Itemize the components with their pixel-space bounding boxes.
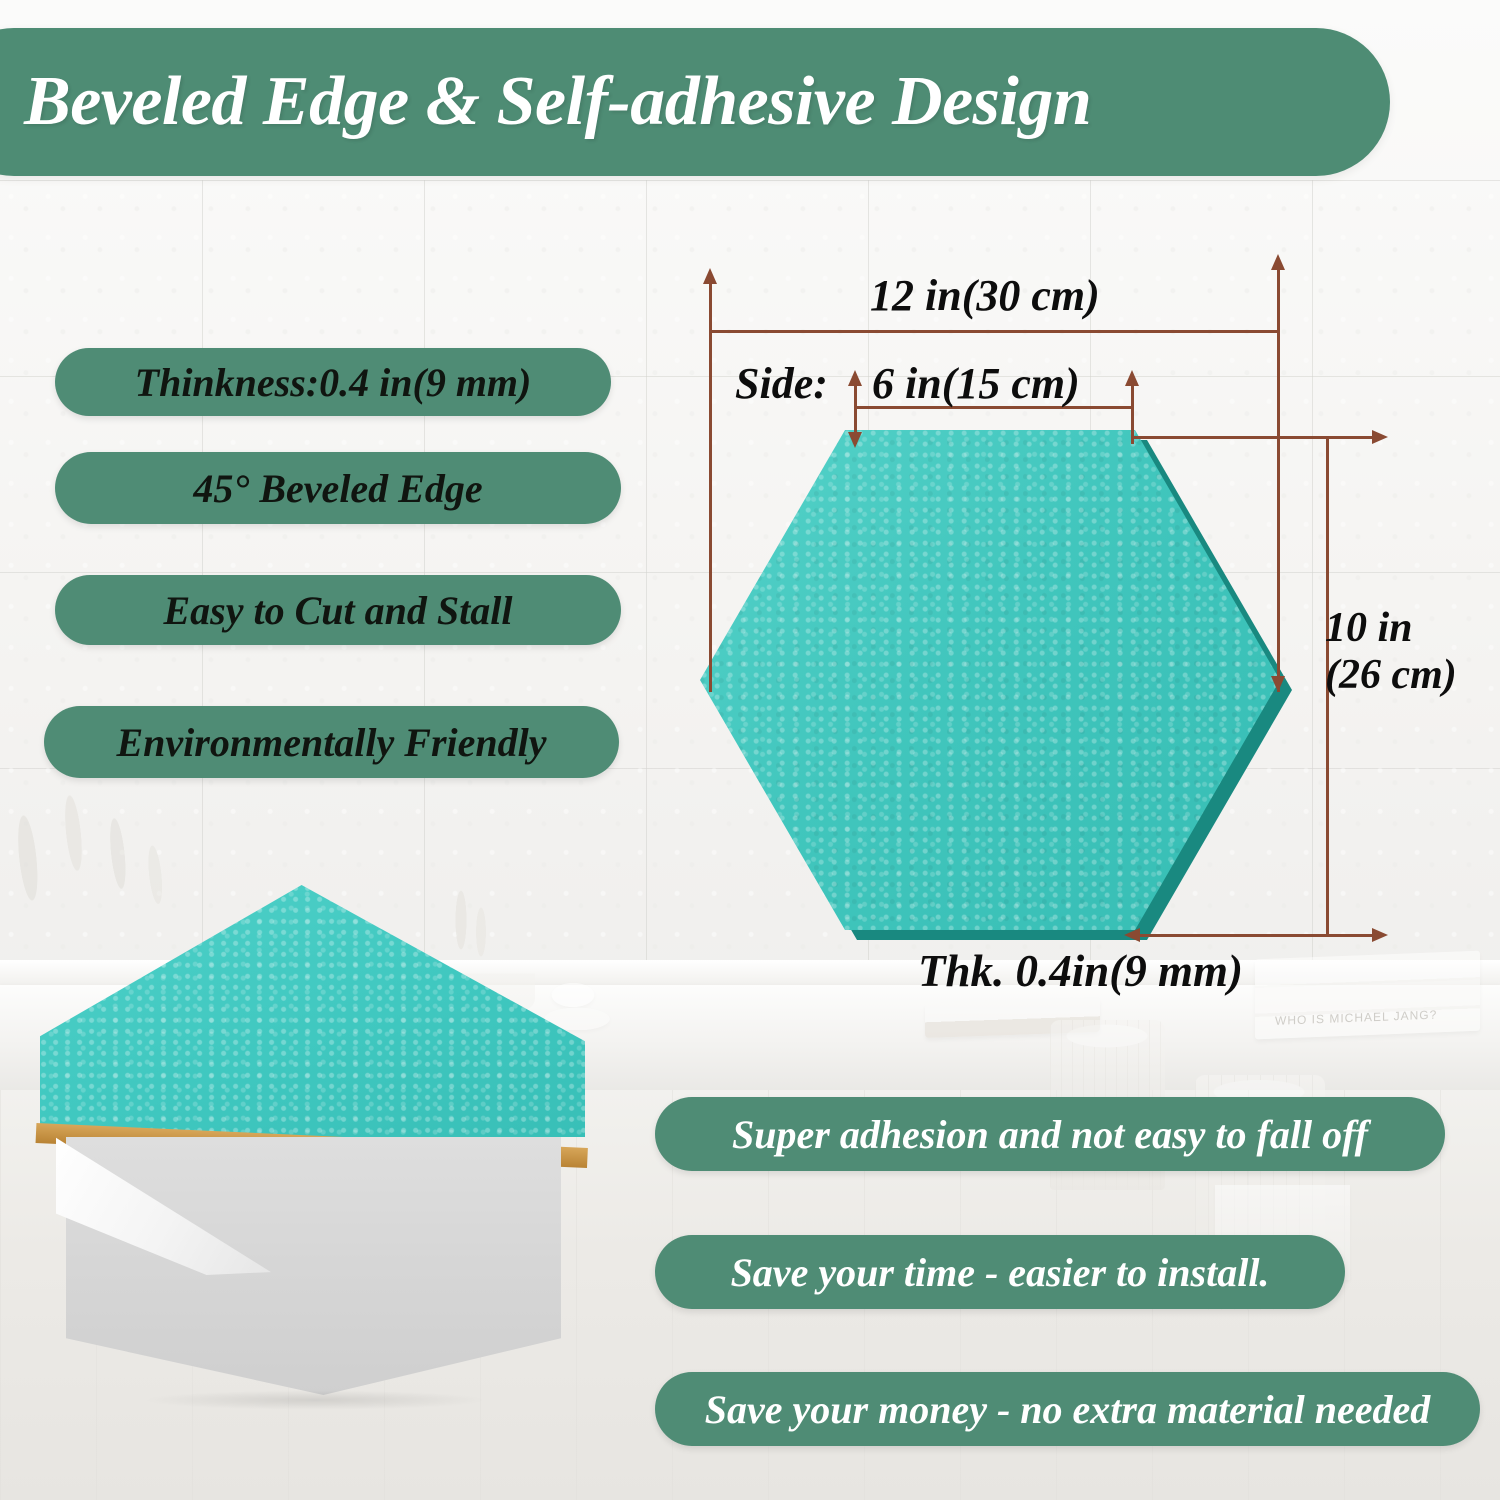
dimension-label-width: 12 in(30 cm) bbox=[870, 270, 1100, 321]
peel-drop-shadow bbox=[70, 1385, 560, 1415]
dimension-arrow-side-right-up-icon bbox=[1125, 370, 1139, 386]
dimension-extension-left bbox=[709, 282, 712, 692]
dimension-arrow-side-left-down-icon bbox=[848, 432, 862, 448]
dimension-line-width bbox=[709, 330, 1280, 333]
dimension-label-height-line1: 10 in bbox=[1325, 605, 1413, 651]
header-banner: Beveled Edge & Self-adhesive Design bbox=[0, 28, 1390, 176]
hexagon-panel bbox=[700, 430, 1300, 950]
peel-panel-front-face bbox=[40, 885, 585, 1137]
feature-pill-thickness: Thinkness:0.4 in(9 mm) bbox=[55, 348, 611, 416]
benefit-pill-save-time: Save your time - easier to install. bbox=[655, 1235, 1345, 1309]
dimension-label-side: 6 in(15 cm) bbox=[872, 358, 1080, 409]
dimension-arrow-height-top-icon bbox=[1372, 430, 1388, 444]
dimension-line-thickness bbox=[1137, 934, 1377, 937]
self-adhesive-peel-illustration bbox=[40, 885, 585, 1405]
feature-pill-eco-friendly-label: Environmentally Friendly bbox=[44, 719, 619, 766]
dimension-arrow-height-down-icon bbox=[1271, 676, 1285, 692]
feature-pill-easy-cut-label: Easy to Cut and Stall bbox=[55, 587, 621, 634]
feature-pill-eco-friendly: Environmentally Friendly bbox=[44, 706, 619, 778]
page-title: Beveled Edge & Self-adhesive Design bbox=[24, 62, 1091, 142]
feature-pill-beveled-edge-label: 45° Beveled Edge bbox=[55, 465, 621, 512]
benefit-pill-save-money: Save your money - no extra material need… bbox=[655, 1372, 1480, 1446]
dimension-label-thickness: Thk. 0.4in(9 mm) bbox=[918, 945, 1243, 997]
feature-pill-thickness-label: Thinkness:0.4 in(9 mm) bbox=[55, 359, 611, 406]
dimension-arrow-thickness-left-icon bbox=[1124, 928, 1140, 942]
dimension-label-side-prefix: Side: bbox=[735, 358, 828, 409]
dimension-label-height-line2: (26 cm) bbox=[1325, 652, 1457, 698]
feature-pill-easy-cut: Easy to Cut and Stall bbox=[55, 575, 621, 645]
dimension-line-height-top bbox=[1131, 436, 1376, 439]
benefit-pill-save-money-label: Save your money - no extra material need… bbox=[655, 1386, 1480, 1433]
dimension-arrow-left-up-icon bbox=[703, 268, 717, 284]
dimension-arrow-right-up-icon bbox=[1271, 254, 1285, 270]
benefit-pill-adhesion: Super adhesion and not easy to fall off bbox=[655, 1097, 1445, 1171]
benefit-pill-adhesion-label: Super adhesion and not easy to fall off bbox=[655, 1111, 1445, 1158]
benefit-pill-save-time-label: Save your time - easier to install. bbox=[655, 1249, 1345, 1296]
dimension-extension-side-right bbox=[1131, 382, 1134, 444]
feature-pill-beveled-edge: 45° Beveled Edge bbox=[55, 452, 621, 524]
peel-release-liner bbox=[66, 1137, 561, 1395]
infographic-canvas: WHO IS MICHAEL JANG? Beveled Edge & Self… bbox=[0, 0, 1500, 1500]
dimension-label-height: 10 in (26 cm) bbox=[1325, 605, 1457, 699]
dimension-arrow-side-left-up-icon bbox=[848, 370, 862, 386]
